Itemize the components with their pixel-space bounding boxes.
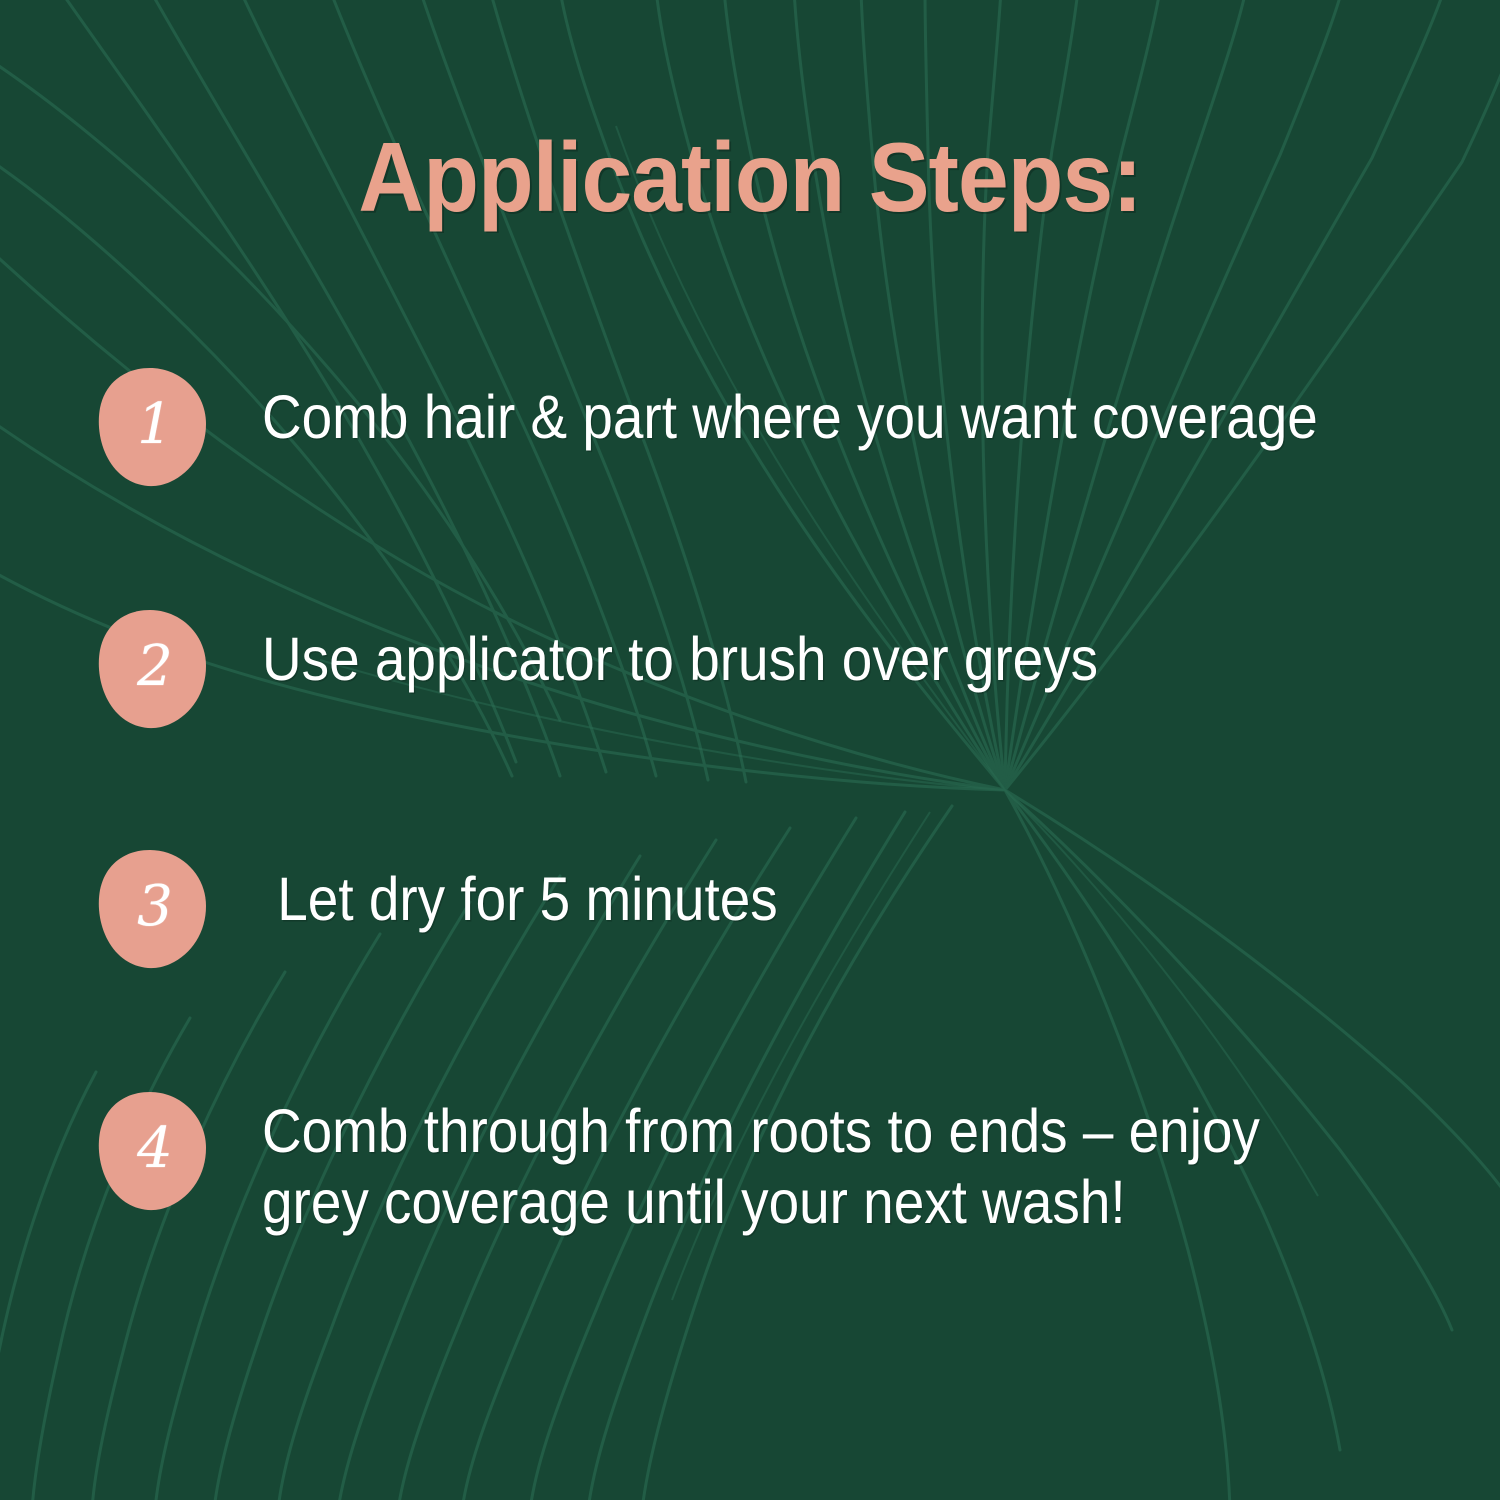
step-number-badge: 2 bbox=[96, 608, 208, 730]
step-number-badge: 1 bbox=[96, 366, 208, 488]
step-number-badge: 4 bbox=[96, 1090, 208, 1212]
list-item: 3 Let dry for 5 minutes bbox=[96, 848, 1456, 970]
step-text: Use applicator to brush over greys bbox=[262, 608, 1337, 695]
step-number-label: 4 bbox=[96, 1090, 208, 1212]
step-number-label: 1 bbox=[96, 366, 208, 488]
step-number-badge: 3 bbox=[96, 848, 208, 970]
application-steps-poster: Application Steps: 1 Comb hair & part wh… bbox=[0, 0, 1500, 1500]
list-item: 2 Use applicator to brush over greys bbox=[96, 608, 1456, 730]
list-item: 4 Comb through from roots to ends – enjo… bbox=[96, 1090, 1456, 1238]
page-title: Application Steps: bbox=[53, 128, 1448, 226]
step-number-label: 3 bbox=[96, 848, 208, 970]
list-item: 1 Comb hair & part where you want covera… bbox=[96, 366, 1456, 488]
step-text: Let dry for 5 minutes bbox=[262, 848, 1337, 935]
step-number-label: 2 bbox=[96, 608, 208, 730]
step-text: Comb hair & part where you want coverage bbox=[262, 366, 1337, 453]
step-text: Comb through from roots to ends – enjoy … bbox=[262, 1090, 1337, 1238]
